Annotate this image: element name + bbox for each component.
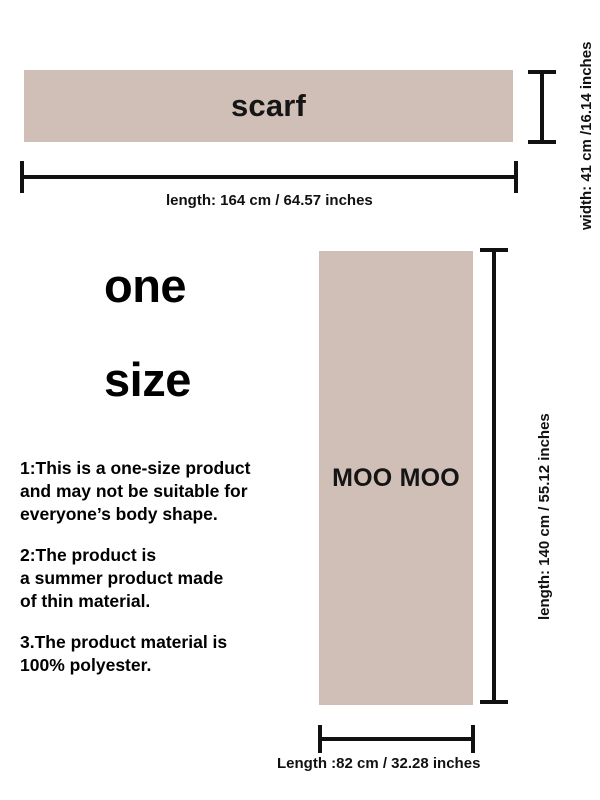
scarf-width-label: width: 41 cm /16.14 inches [578,42,595,230]
headline-one: one [104,258,186,313]
moomoo-length-tick-top [480,248,508,252]
scarf-shape: scarf [24,70,513,142]
scarf-length-dimension-line [20,175,518,179]
scarf-width-tick-bottom [528,140,556,144]
moomoo-shape-label: MOO MOO [332,464,460,493]
moomoo-length-dimension-line [492,248,496,704]
moomoo-length-label: length: 140 cm / 55.12 inches [536,413,553,620]
moomoo-width-tick-right [471,725,475,753]
moomoo-width-tick-left [318,725,322,753]
product-notes: 1:This is a one-size product and may not… [20,457,320,677]
scarf-shape-label: scarf [231,88,306,124]
scarf-length-tick-right [514,161,518,193]
moomoo-width-dimension-line [318,737,475,741]
scarf-width-dimension-line [540,70,544,144]
scarf-length-tick-left [20,161,24,193]
product-note-1: 1:This is a one-size product and may not… [20,457,320,526]
product-note-3: 3.The product material is 100% polyester… [20,631,320,677]
product-note-2: 2:The product is a summer product made o… [20,544,320,613]
scarf-width-tick-top [528,70,556,74]
moomoo-length-tick-bottom [480,700,508,704]
moomoo-width-label: Length :82 cm / 32.28 inches [277,755,480,772]
moomoo-shape: MOO MOO [319,251,473,705]
headline-size: size [104,352,191,407]
size-chart-page: scarf length: 164 cm / 64.57 inches widt… [0,0,600,800]
scarf-length-label: length: 164 cm / 64.57 inches [166,192,373,209]
